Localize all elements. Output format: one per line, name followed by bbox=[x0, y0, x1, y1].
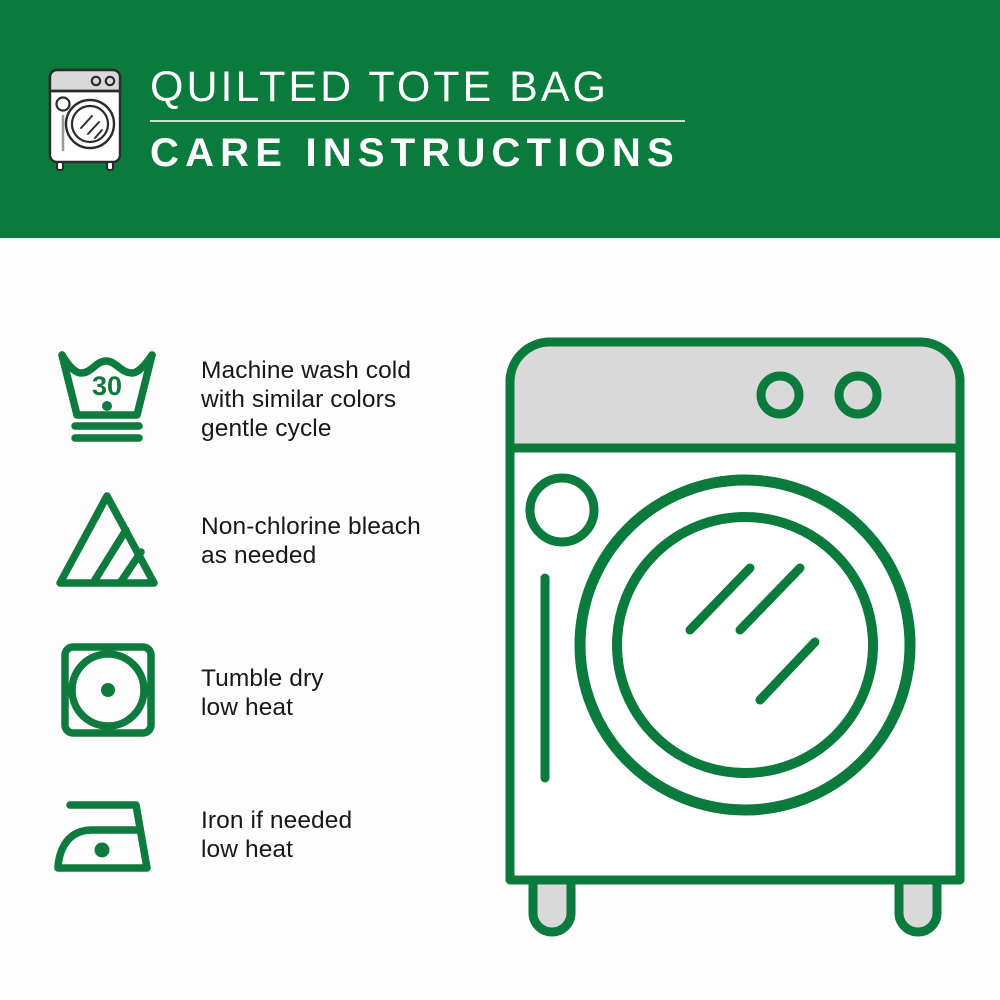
leg-right bbox=[899, 880, 937, 932]
page-title: QUILTED TOTE BAG bbox=[150, 66, 685, 109]
care-instructions-infographic: QUILTED TOTE BAG CARE INSTRUCTIONS 30 Ma… bbox=[0, 0, 1000, 1000]
washing-machine-icon bbox=[40, 62, 136, 172]
wash-temperature-label: 30 bbox=[92, 371, 122, 401]
bleach-triangle-icon bbox=[48, 486, 166, 594]
care-instruction-list: 30 Machine wash cold with similar colors… bbox=[0, 238, 500, 1000]
tumble-dry-icon bbox=[48, 638, 166, 742]
care-row-bleach: Non-chlorine bleach as needed bbox=[48, 486, 421, 594]
control-panel bbox=[510, 342, 960, 448]
page-subtitle: CARE INSTRUCTIONS bbox=[150, 133, 685, 173]
care-row-machine-wash: 30 Machine wash cold with similar colors… bbox=[48, 343, 411, 447]
care-label-bleach: Non-chlorine bleach as needed bbox=[201, 486, 421, 570]
care-row-tumble-dry: Tumble dry low heat bbox=[48, 638, 324, 742]
header-titles: QUILTED TOTE BAG CARE INSTRUCTIONS bbox=[150, 62, 685, 173]
washing-machine-illustration bbox=[495, 330, 975, 940]
header-banner: QUILTED TOTE BAG CARE INSTRUCTIONS bbox=[0, 0, 1000, 238]
header-content: QUILTED TOTE BAG CARE INSTRUCTIONS bbox=[40, 62, 685, 173]
wash-tub-icon: 30 bbox=[48, 343, 166, 447]
care-label-iron: Iron if needed low heat bbox=[201, 786, 352, 864]
iron-icon bbox=[48, 786, 166, 890]
care-label-machine-wash: Machine wash cold with similar colors ge… bbox=[201, 343, 411, 443]
title-divider bbox=[150, 120, 685, 122]
care-label-tumble-dry: Tumble dry low heat bbox=[201, 638, 324, 722]
care-row-iron: Iron if needed low heat bbox=[48, 786, 352, 890]
leg-left bbox=[533, 880, 571, 932]
